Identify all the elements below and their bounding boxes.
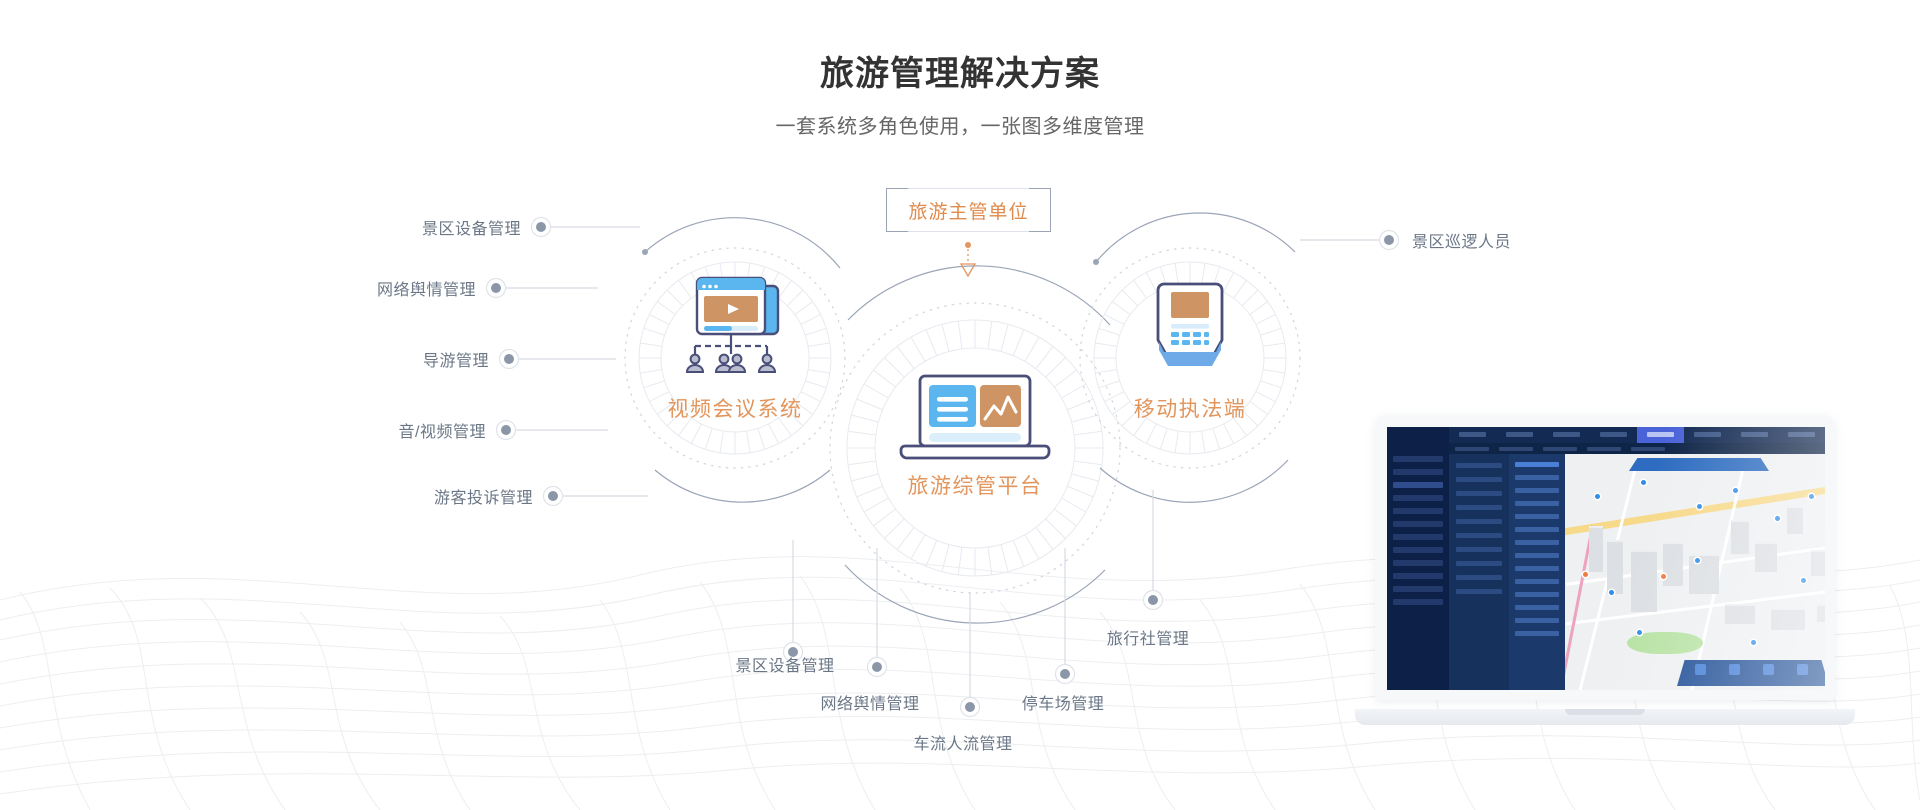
poster-stage: 旅游管理解决方案 一套系统多角色使用，一张图多维度管理 [0,0,1920,810]
map-building [1607,540,1623,594]
app-layer-panel [1509,454,1565,690]
map-building [1725,604,1755,624]
laptop-lid [1375,415,1835,700]
authority-badge[interactable]: 旅游主管单位 [886,188,1051,232]
layer-item[interactable] [1515,618,1559,623]
tree-node[interactable] [1456,491,1502,496]
layer-item[interactable] [1515,579,1559,584]
map-building [1689,554,1719,594]
badge-corner-tr [1029,188,1051,210]
tab-chip[interactable] [1631,447,1665,451]
video-conference-icon [687,278,778,372]
sidebar-item-active[interactable] [1393,482,1443,488]
layer-item[interactable] [1515,527,1559,532]
bottom-label-travel-agency-management[interactable]: 旅行社管理 [1107,625,1190,649]
menu-item[interactable] [1684,427,1731,443]
map-road-main [1565,483,1825,537]
menu-item[interactable] [1449,427,1496,443]
app-menu [1449,427,1825,443]
tree-node[interactable] [1456,519,1502,524]
map-marker[interactable] [1733,488,1738,493]
left-label-tourist-complaint-management[interactable]: 游客投诉管理 [434,484,533,508]
map-building [1731,520,1749,554]
layer-item[interactable] [1515,605,1559,610]
sidebar-item[interactable] [1393,599,1443,605]
layer-item[interactable] [1515,553,1559,558]
badge-corner-br [1029,210,1051,232]
map-building [1663,542,1683,586]
layer-item[interactable] [1515,566,1559,571]
app-tabbar [1449,443,1825,454]
map-marker[interactable] [1641,480,1646,485]
menu-item-active[interactable] [1637,427,1684,443]
node-caption-mobile-enforcement: 移动执法端 [1134,393,1247,423]
map-building [1771,608,1805,630]
laptop-mockup [1355,415,1855,725]
tree-node[interactable] [1456,561,1502,566]
menu-item[interactable] [1778,427,1825,443]
tab-chip[interactable] [1587,447,1621,451]
badge-edge-bottom [908,231,1029,232]
map-building [1817,604,1825,622]
layer-item-active[interactable] [1515,462,1559,467]
laptop-notch [1565,709,1645,715]
map-marker[interactable] [1695,558,1700,563]
sidebar-item[interactable] [1393,573,1443,579]
tree-node[interactable] [1456,477,1502,482]
map-marker[interactable] [1775,516,1780,521]
authority-badge-label: 旅游主管单位 [908,197,1028,224]
sidebar-item[interactable] [1393,469,1443,475]
handheld-terminal-icon [1158,284,1222,366]
left-label-guide-management[interactable]: 导游管理 [423,347,489,371]
map-building [1787,506,1803,534]
map-marker[interactable] [1809,494,1814,499]
layer-item[interactable] [1515,488,1559,493]
layer-item[interactable] [1515,631,1559,636]
map-building [1811,550,1825,576]
layer-item[interactable] [1515,514,1559,519]
tree-node[interactable] [1456,533,1502,538]
tab-chip[interactable] [1543,447,1577,451]
right-label-scenic-patrol-staff[interactable]: 景区巡逻人员 [1412,228,1511,252]
app-topbar [1387,427,1825,443]
tree-node[interactable] [1456,463,1502,468]
left-label-public-opinion-management[interactable]: 网络舆情管理 [377,276,476,300]
dock-icon-1[interactable] [1695,664,1706,675]
left-label-audio-video-management[interactable]: 音/视频管理 [399,418,486,442]
laptop-screen [1387,427,1825,690]
bottom-label-public-opinion-management[interactable]: 网络舆情管理 [820,690,919,714]
map-marker[interactable] [1801,578,1806,583]
tab-chip[interactable] [1499,447,1533,451]
map-bottom-dock[interactable] [1677,660,1825,686]
menu-item[interactable] [1590,427,1637,443]
map-marker[interactable] [1637,630,1642,635]
sidebar-item[interactable] [1393,534,1443,540]
dock-icon-3[interactable] [1763,664,1774,675]
bottom-connectors [784,490,1163,717]
dock-icon-4[interactable] [1797,664,1808,675]
app-sidebar [1387,443,1449,690]
map-marker-alert[interactable] [1661,574,1666,579]
map-building [1755,542,1777,572]
map-building [1589,526,1603,572]
tab-chip[interactable] [1455,447,1489,451]
menu-item[interactable] [1496,427,1543,443]
sidebar-item[interactable] [1393,586,1443,592]
right-connectors [1300,231,1399,250]
tree-node[interactable] [1456,505,1502,510]
menu-item[interactable] [1731,427,1778,443]
menu-item[interactable] [1543,427,1590,443]
authority-connector [961,242,975,276]
map-marker[interactable] [1595,494,1600,499]
sidebar-item[interactable] [1393,456,1443,462]
map-marker[interactable] [1609,590,1614,595]
bottom-label-traffic-flow-management[interactable]: 车流人流管理 [913,730,1012,754]
left-label-scenic-device-management[interactable]: 景区设备管理 [422,215,521,239]
badge-edge-top [908,188,1029,189]
map-building [1631,550,1657,612]
map-marker[interactable] [1751,640,1756,645]
app-logo [1387,427,1449,443]
map-canvas[interactable] [1565,454,1825,690]
laptop-dashboard-icon [901,376,1049,458]
map-marker[interactable] [1697,504,1702,509]
dock-icon-2[interactable] [1729,664,1740,675]
tree-node[interactable] [1456,547,1502,552]
badge-corner-bl [886,210,908,232]
app-tree-panel [1449,454,1509,690]
sidebar-item[interactable] [1393,508,1443,514]
bottom-label-scenic-device-management[interactable]: 景区设备管理 [735,652,834,676]
node-caption-video-conference: 视频会议系统 [668,393,803,423]
tree-node[interactable] [1456,589,1502,594]
bottom-label-parking-management[interactable]: 停车场管理 [1022,690,1105,714]
tree-node[interactable] [1456,575,1502,580]
left-connectors [487,218,649,506]
layer-item[interactable] [1515,501,1559,506]
layer-item[interactable] [1515,475,1559,480]
map-marker-alert[interactable] [1583,572,1588,577]
layer-item[interactable] [1515,540,1559,545]
node-caption-tourism-platform: 旅游综管平台 [908,470,1043,500]
sidebar-item[interactable] [1393,521,1443,527]
map-park-area [1627,632,1703,654]
badge-corner-tl [886,188,908,210]
map-header-chip[interactable] [1629,458,1769,471]
sidebar-item[interactable] [1393,560,1443,566]
layer-item[interactable] [1515,592,1559,597]
sidebar-item[interactable] [1393,547,1443,553]
sidebar-item[interactable] [1393,495,1443,501]
